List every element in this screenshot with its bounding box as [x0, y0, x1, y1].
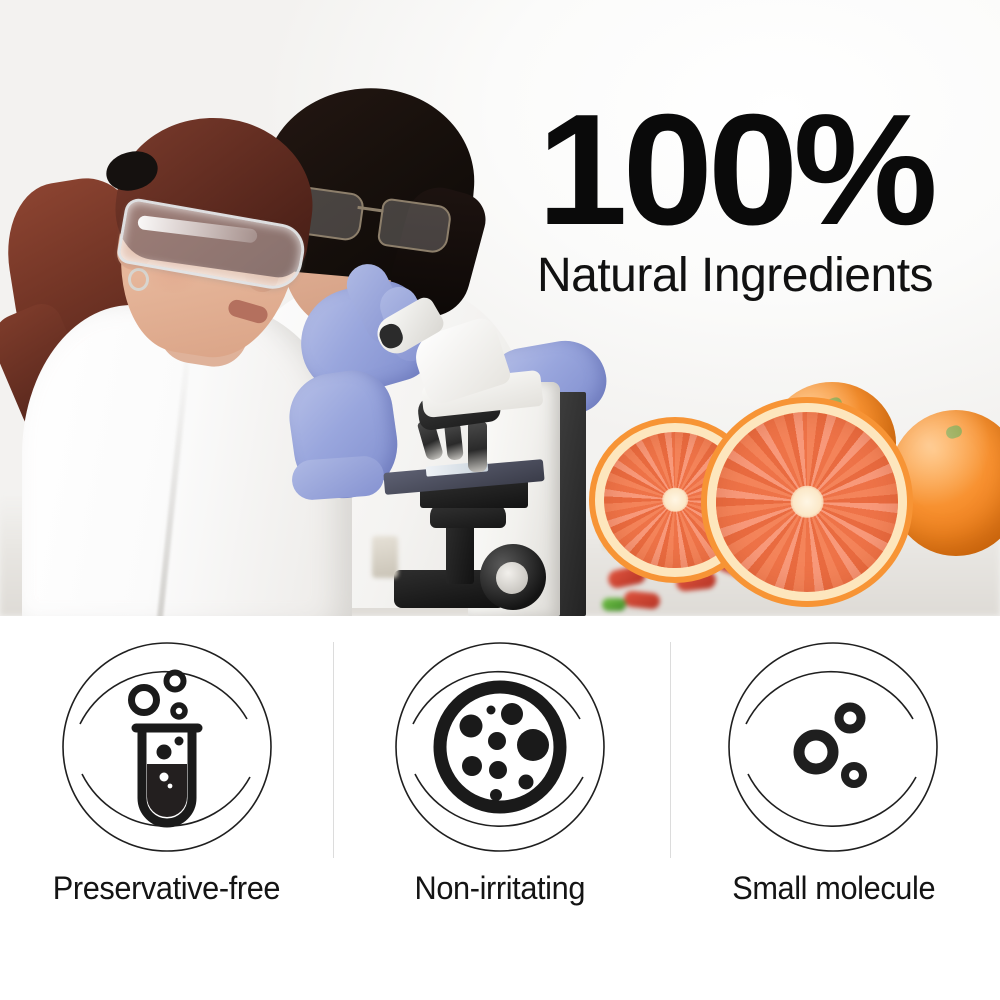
- orange-stem: [945, 424, 964, 440]
- hero-photo: 100% Natural Ingredients: [0, 0, 1000, 616]
- feature-preservative-free[interactable]: Preservative-free: [0, 616, 333, 1000]
- capsule-green: [602, 598, 626, 611]
- sample-vial: [372, 536, 398, 578]
- feature-non-irritating[interactable]: Non-irritating: [333, 616, 666, 1000]
- feature-small-molecule[interactable]: Small molecule: [667, 616, 1000, 1000]
- headline-block: 100% Natural Ingredients: [500, 96, 970, 300]
- capsule: [623, 590, 660, 610]
- feature-label: Non-irritating: [415, 870, 585, 907]
- product-feature-banner: 100% Natural Ingredients: [0, 0, 1000, 1000]
- test-tube-bubbles-icon: [60, 640, 274, 854]
- feature-label: Small molecule: [732, 870, 935, 907]
- molecule-rings-icon: [726, 640, 940, 854]
- capsule: [607, 564, 648, 590]
- fine-focus-knob: [496, 562, 528, 594]
- petri-dish-dots-icon: [393, 640, 607, 854]
- capsule: [675, 570, 717, 592]
- microscope-neck: [446, 522, 474, 584]
- microscope-back-panel: [556, 392, 586, 616]
- orange-half-center: [716, 412, 898, 592]
- headline-subtitle: Natural Ingredients: [500, 251, 970, 301]
- feature-row: Preservative-free: [0, 616, 1000, 1000]
- objective-lens: [444, 423, 464, 460]
- orange-stem: [825, 396, 844, 412]
- headline-percentage: 100%: [493, 96, 977, 245]
- feature-label: Preservative-free: [53, 870, 280, 907]
- earring: [128, 268, 149, 291]
- objective-lens: [468, 422, 487, 472]
